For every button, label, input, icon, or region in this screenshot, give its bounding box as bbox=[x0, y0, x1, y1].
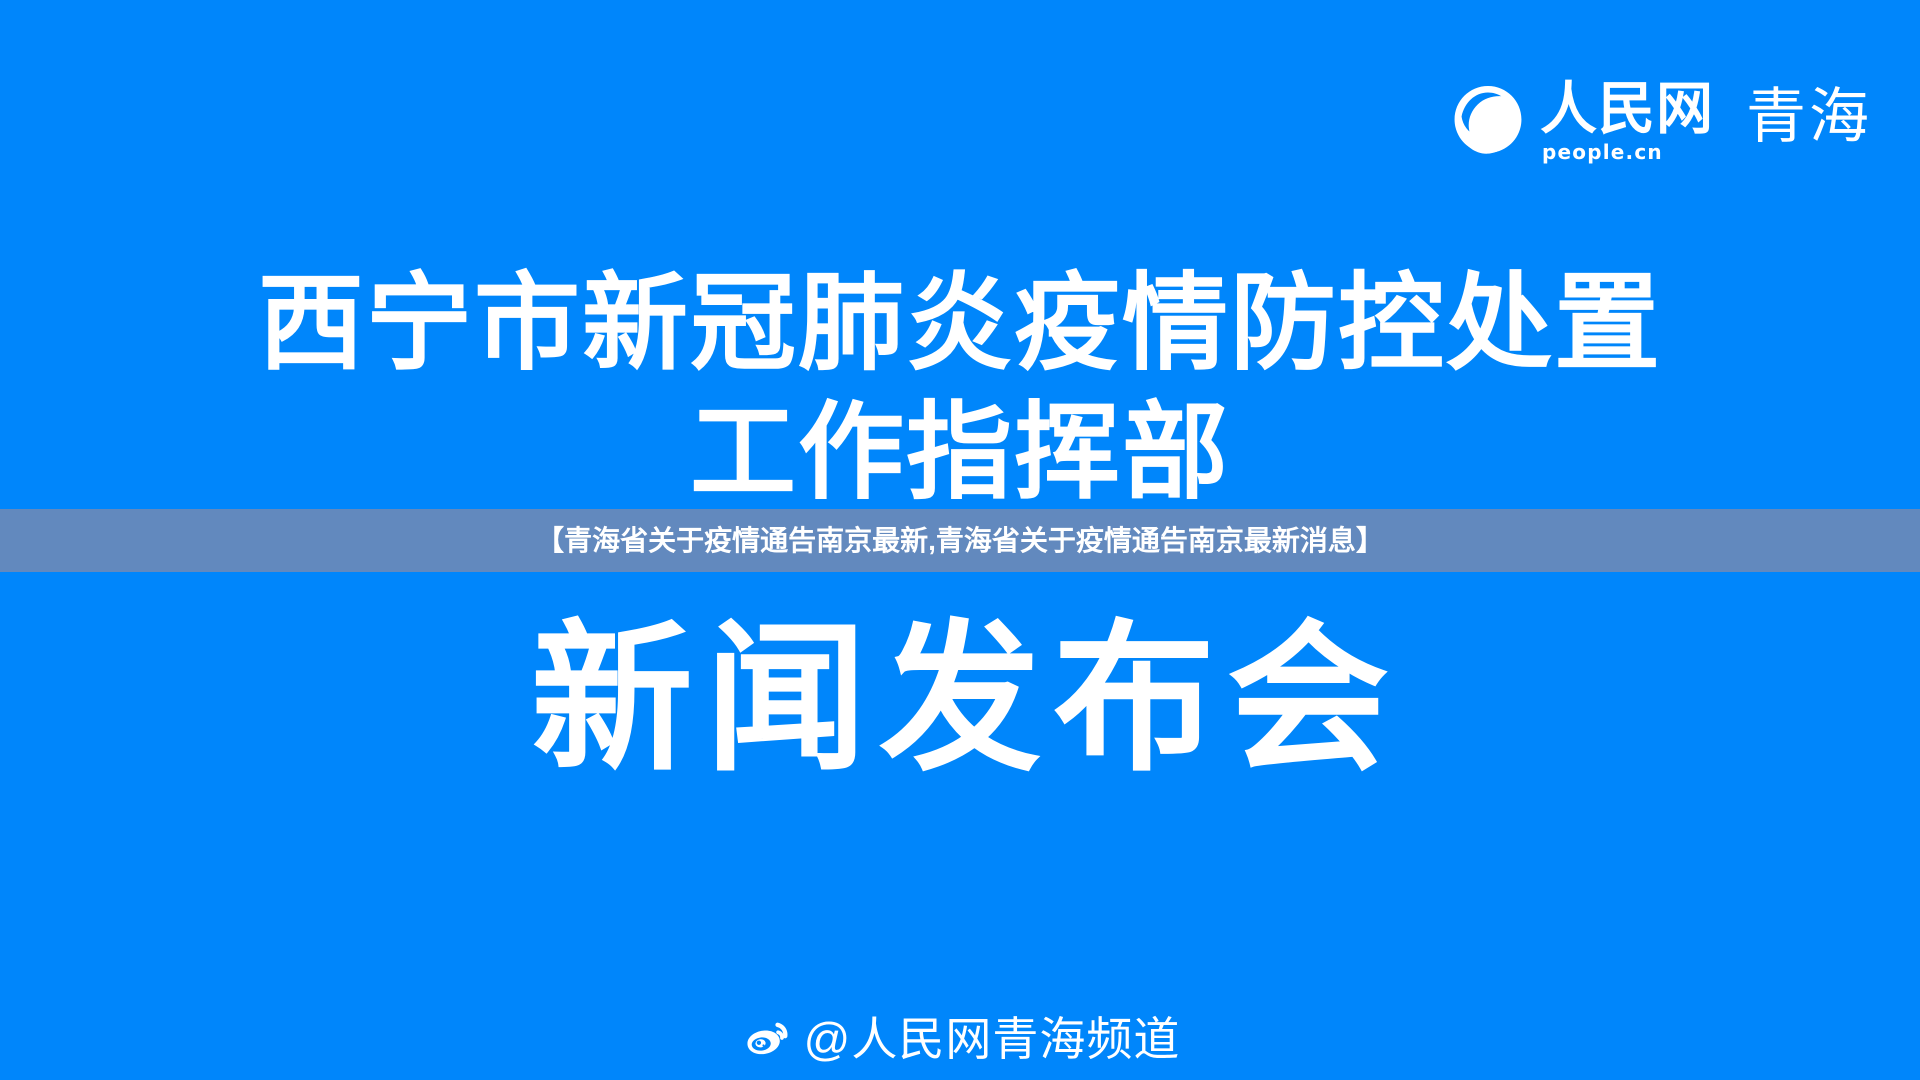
weibo-icon bbox=[740, 1012, 794, 1066]
people-cn-globe-icon bbox=[1450, 83, 1526, 159]
brand-name-cn: 人民网 bbox=[1540, 80, 1714, 138]
brand-wordmark: 人民网 people.cn bbox=[1540, 80, 1714, 162]
brand-logo: 人民网 people.cn 青海 bbox=[1450, 80, 1872, 162]
page-title-line-2: 工作指挥部 bbox=[120, 387, 1800, 516]
page-title-line-1: 西宁市新冠肺炎疫情防控处置 bbox=[120, 258, 1800, 387]
brand-name-latin: people.cn bbox=[1542, 142, 1663, 162]
caption-banner: 【青海省关于疫情通告南京最新,青海省关于疫情通告南京最新消息】 bbox=[0, 509, 1920, 572]
event-title: 新闻发布会 bbox=[0, 618, 1920, 780]
brand-region-label: 青海 bbox=[1746, 87, 1872, 155]
broadcast-slide: 人民网 people.cn 青海 西宁市新冠肺炎疫情防控处置 工作指挥部 新闻发… bbox=[0, 0, 1920, 1080]
caption-banner-text: 【青海省关于疫情通告南京最新,青海省关于疫情通告南京最新消息】 bbox=[536, 527, 1384, 555]
weibo-handle-text: @人民网青海频道 bbox=[804, 1016, 1181, 1062]
social-handle-row: @人民网青海频道 bbox=[0, 1012, 1920, 1066]
page-title: 西宁市新冠肺炎疫情防控处置 工作指挥部 bbox=[0, 258, 1920, 517]
